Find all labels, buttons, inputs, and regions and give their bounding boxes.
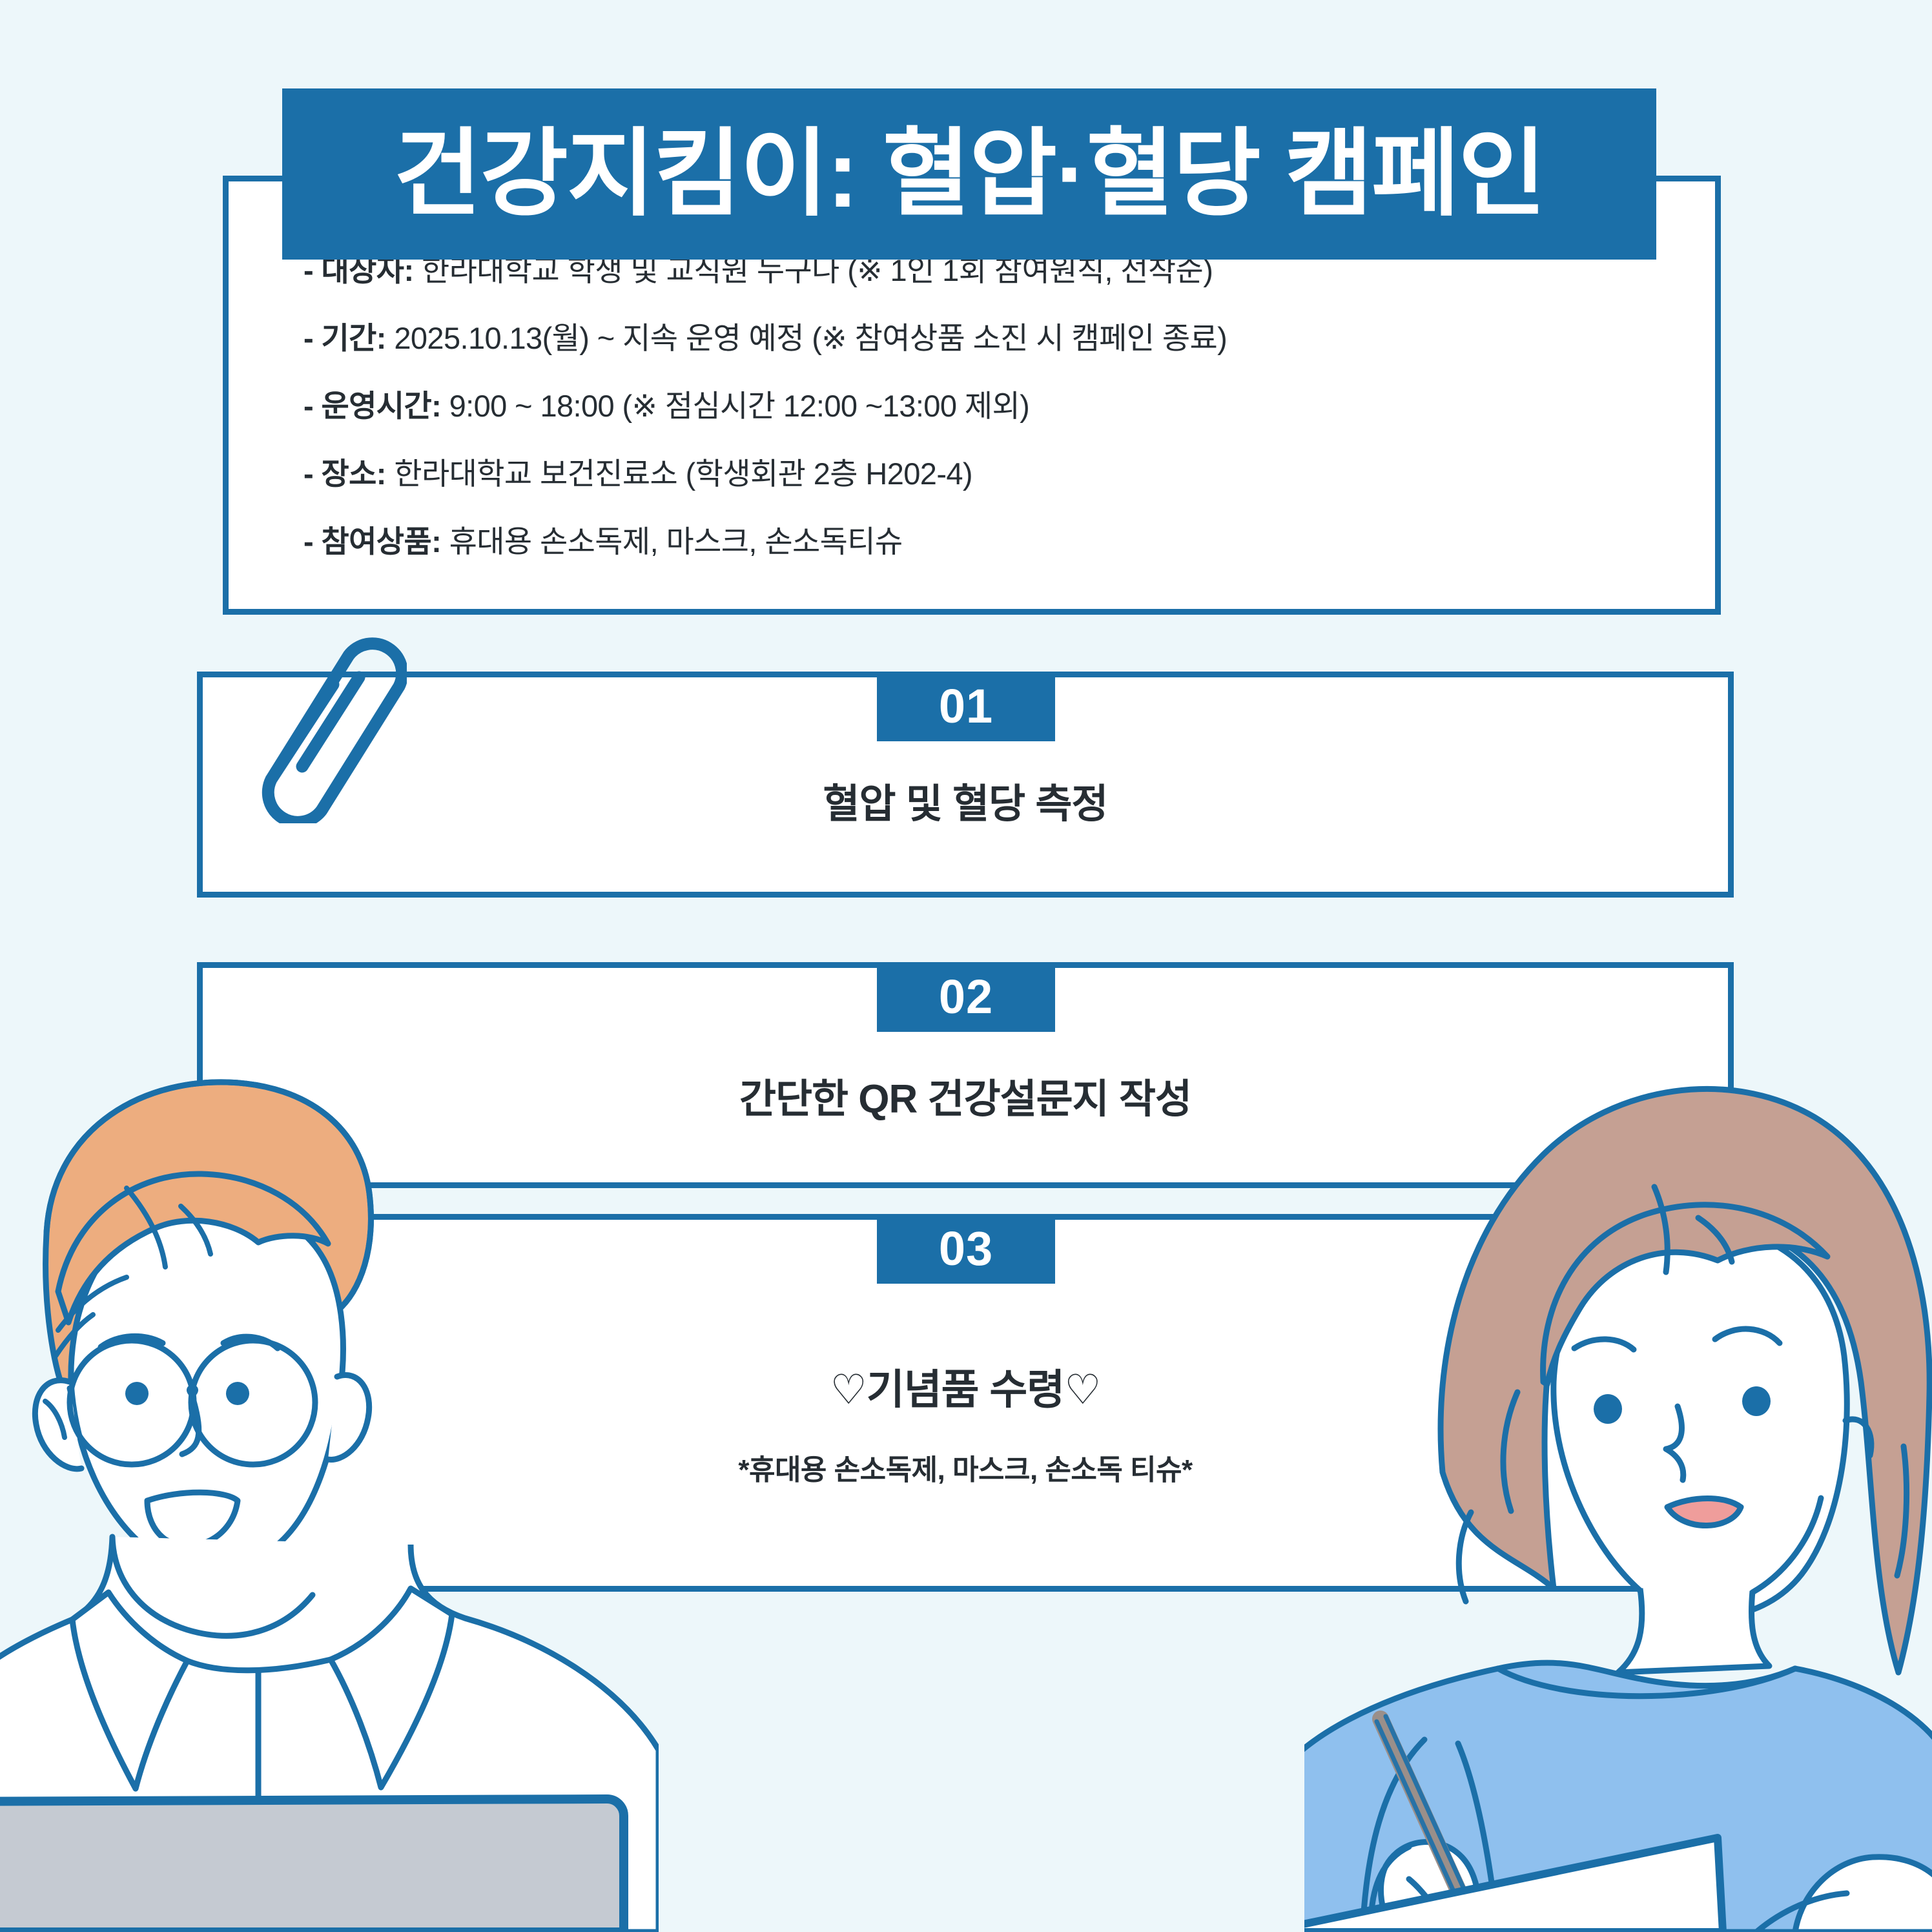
step-number-badge-02: 02 [877,962,1055,1032]
thumb [1372,1847,1409,1911]
nose [182,1401,199,1454]
eyebrow-left [101,1336,163,1347]
hand-resting [1795,1857,1932,1932]
eye-right [1742,1386,1771,1416]
ear-left [35,1381,81,1469]
shirt [1304,1663,1932,1932]
neck [1618,1588,1769,1672]
info-label: 참여상품: [322,524,442,559]
info-dash: - [303,389,313,423]
glasses-bridge [190,1388,196,1393]
paper [1304,1838,1723,1932]
step-title-03: ♡기념품 수령♡ [197,1369,1734,1410]
arm-line [1362,1740,1424,1932]
step-number-badge-03: 03 [877,1214,1055,1284]
eye-left [125,1382,149,1405]
info-label: 기간: [322,321,386,355]
info-line-target: - 대상자: 한라대학교 학생 및 교직원 누구나 (※ 1인 1회 참여원칙,… [303,255,1672,285]
info-label: 운영시간: [322,389,442,423]
info-value: 휴대용 손소독제, 마스크, 손소독티슈 [449,524,903,559]
info-value: 9:00 ~ 18:00 (※ 점심시간 12:00 ~13:00 제외) [449,389,1030,423]
step-number-badge-01: 01 [877,672,1055,741]
neckline [1498,1669,1795,1696]
info-dash: - [303,457,313,491]
shirt [0,1537,659,1932]
info-label: 장소: [322,457,386,491]
pen [1381,1719,1474,1924]
info-dash: - [303,321,313,355]
laptop [0,1799,624,1932]
info-line-hours: - 운영시간: 9:00 ~ 18:00 (※ 점심시간 12:00 ~13:0… [303,391,1672,421]
ear-right [1845,1419,1871,1455]
info-list: - 대상자: 한라대학교 학생 및 교직원 누구나 (※ 1인 1회 참여원칙,… [303,255,1672,594]
info-value: 한라대학교 보건진료소 (학생회관 2층 H202-4) [394,457,972,491]
poster-title-banner: 건강지킴이: 혈압·혈당 캠페인 [282,88,1656,260]
info-value: 2025.10.13(월) ~ 지속 운영 예정 (※ 참여상품 소진 시 캠페… [394,321,1227,355]
poster-canvas: - 대상자: 한라대학교 학생 및 교직원 누구나 (※ 1인 1회 참여원칙,… [0,0,1932,1932]
info-line-period: - 기간: 2025.10.13(월) ~ 지속 운영 예정 (※ 참여상품 소… [303,323,1672,353]
page-title: 건강지킴이: 혈압·혈당 캠페인 [394,127,1545,222]
info-line-gifts: - 참여상품: 휴대용 손소독제, 마스크, 손소독티슈 [303,526,1672,557]
hand [1381,1842,1479,1932]
collar-left [72,1592,187,1789]
step-subtitle-03: *휴대용 손소독제, 마스크, 손소독 티슈* [197,1456,1734,1485]
glasses-left-lens [70,1341,194,1464]
step-title-02: 간단한 QR 건강설문지 작성 [197,1080,1734,1120]
info-line-location: - 장소: 한라대학교 보건진료소 (학생회관 2층 H202-4) [303,458,1672,489]
collar-right [331,1588,452,1787]
info-dash: - [303,524,313,559]
step-title-01: 혈압 및 혈당 측정 [197,785,1734,825]
